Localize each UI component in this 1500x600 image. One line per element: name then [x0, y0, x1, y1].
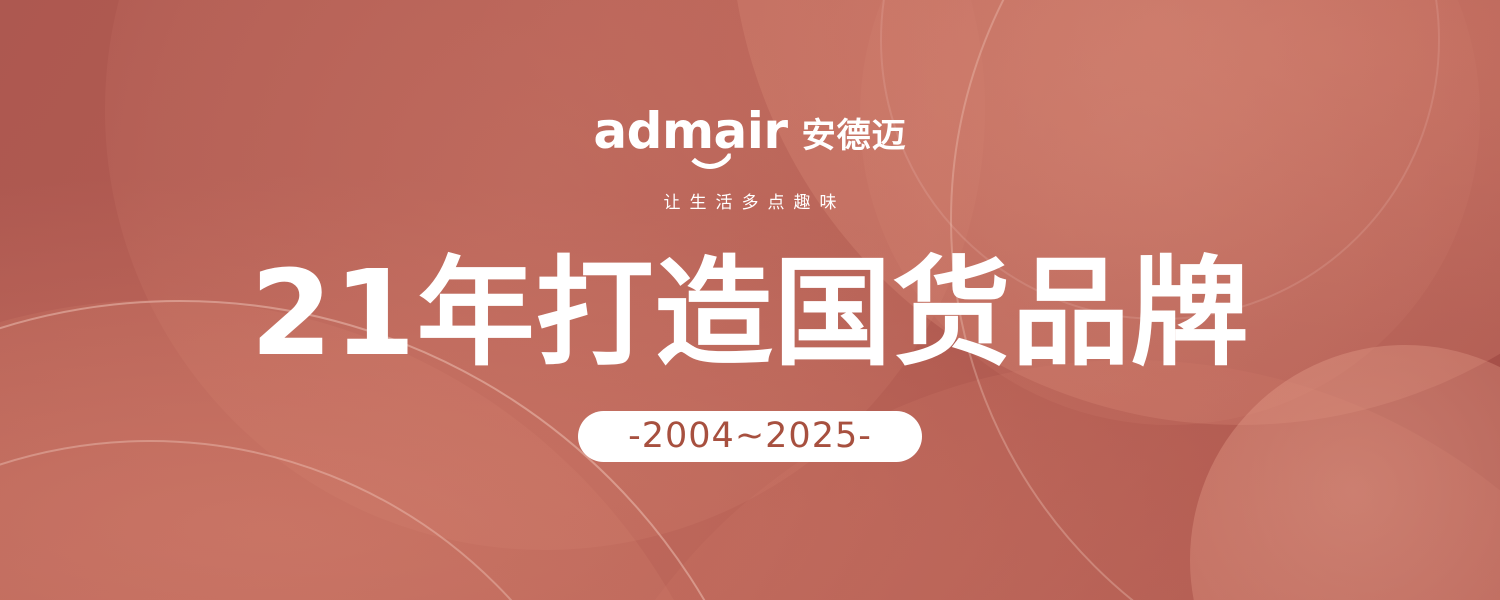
- brand-logo-lockup: admair 安德迈: [0, 106, 1500, 156]
- headline: 21年打造国货品牌: [0, 253, 1500, 373]
- brand-banner: admair 安德迈 让生活多点趣味 21年打造国货品牌 -2004~2025-: [0, 0, 1500, 600]
- year-range-badge: -2004~2025-: [578, 411, 922, 462]
- brand-wordmark-chinese: 安德迈: [802, 119, 907, 156]
- smile-swoosh-icon: [684, 143, 736, 169]
- year-badge-row: -2004~2025-: [0, 411, 1500, 462]
- brand-wordmark-wrap: admair: [593, 106, 787, 156]
- banner-content: admair 安德迈 让生活多点趣味 21年打造国货品牌 -2004~2025-: [0, 0, 1500, 600]
- brand-tagline: 让生活多点趣味: [0, 188, 1500, 213]
